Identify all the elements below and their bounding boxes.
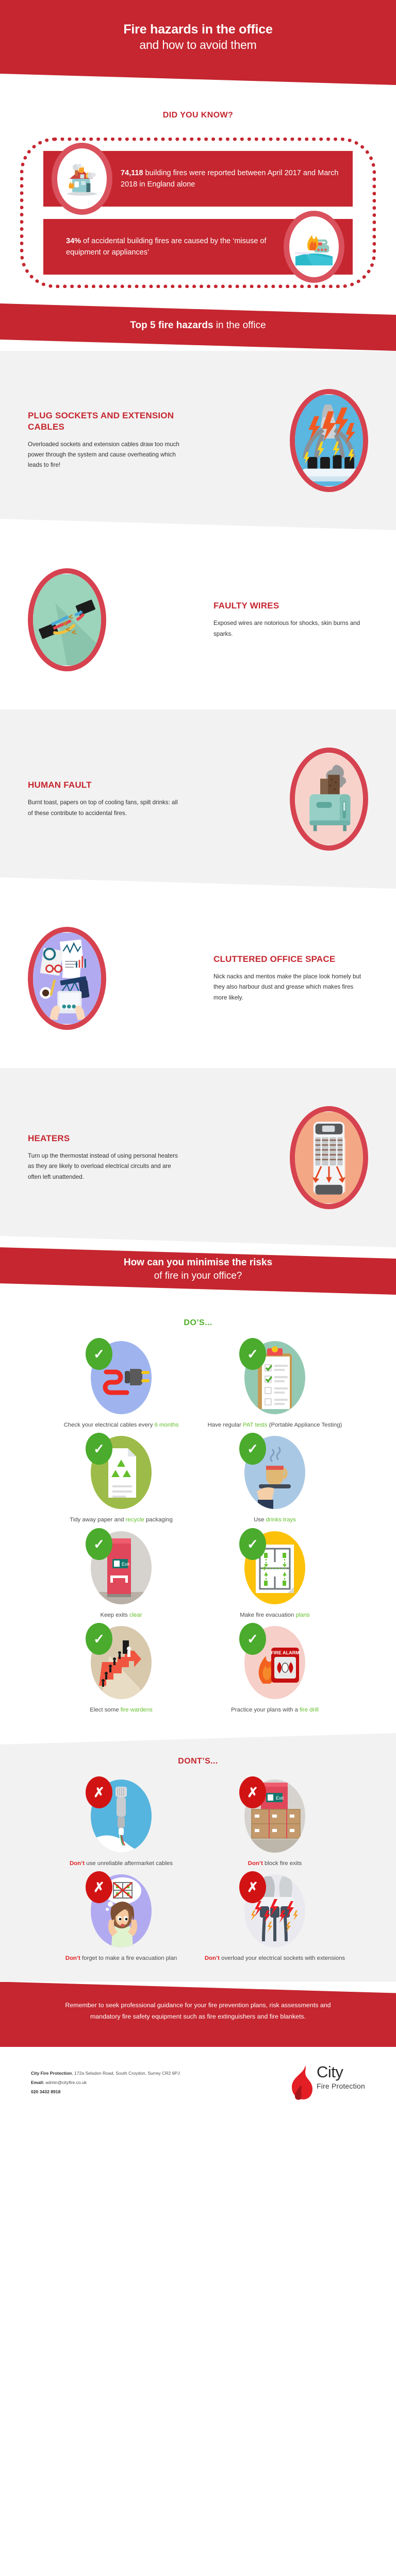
infographic-page: Fire hazards in the office and how to av… bbox=[0, 0, 396, 2576]
exposed-wires-icon bbox=[28, 568, 106, 671]
dos-section: DO’S... ✓ bbox=[0, 1295, 396, 1733]
hazard-body-2: Exposed wires are notorious for shocks, … bbox=[213, 618, 368, 639]
overloaded-extension-lead-icon bbox=[290, 389, 368, 492]
do-hl-4: drinks trays bbox=[266, 1517, 296, 1523]
dont-art-3: ✗ bbox=[91, 1874, 152, 1947]
do-pre-2: Have regular bbox=[208, 1422, 243, 1428]
do-caption-4: Use drinks trays bbox=[198, 1515, 352, 1524]
do-hl-2: PAT tests bbox=[243, 1422, 267, 1428]
do-tile-2: ✓ Have regular PAT tests (Portable Appli… bbox=[198, 1341, 352, 1430]
do-caption-6: Make fire evacuation plans bbox=[198, 1611, 352, 1620]
stat-value-1: 74,118 bbox=[121, 169, 143, 177]
do-caption-8: Practice your plans with a fire drill bbox=[198, 1705, 352, 1715]
do-pre-4: Use bbox=[254, 1517, 266, 1523]
hazard-body-1: Overloaded sockets and extension cables … bbox=[28, 439, 183, 471]
brand-name: City bbox=[317, 2064, 365, 2079]
top5-bold: Top 5 fire hazards bbox=[130, 320, 213, 331]
footer-email[interactable]: admin@cityfire.co.uk bbox=[44, 2080, 87, 2085]
hazard-title-4: CLUTTERED OFFICE SPACE bbox=[213, 954, 368, 964]
do-tile-4: ✓ Use drinks trays bbox=[198, 1436, 352, 1524]
hazard-body-3: Burnt toast, papers on top of cooling fa… bbox=[28, 798, 183, 819]
page-title: Fire hazards in the office bbox=[0, 22, 396, 38]
do-tile-5: Exit ✓ Keep exits clear bbox=[44, 1531, 198, 1620]
minimise-band: How can you minimise the risks of fire i… bbox=[0, 1247, 396, 1295]
footer-company: City Fire Protection bbox=[31, 2071, 72, 2076]
cluttered-desk-icon bbox=[28, 927, 106, 1030]
closing-text: Remember to seek professional guidance f… bbox=[0, 1982, 396, 2047]
dont-tile-2: Exit ✗ bbox=[198, 1780, 352, 1868]
svg-text:Exit: Exit bbox=[276, 1795, 284, 1801]
hazard-title-5: HEATERS bbox=[28, 1133, 183, 1144]
do-post-3: packaging bbox=[144, 1517, 173, 1523]
dont-caption-3: Don’t forget to make a fire evacuation p… bbox=[44, 1954, 198, 1963]
do-pre-3: Tidy away paper and bbox=[70, 1517, 125, 1523]
tick-icon: ✓ bbox=[86, 1528, 112, 1560]
do-art-5: Exit ✓ bbox=[91, 1531, 152, 1604]
dont-caption-2: Don’t block fire exits bbox=[198, 1859, 352, 1868]
do-tile-7: ✓ Elect some fire wardens bbox=[44, 1626, 198, 1715]
footer-email-label: Email: bbox=[31, 2080, 44, 2085]
tick-icon: ✓ bbox=[239, 1623, 266, 1655]
dont-tile-3: ✗ Don’t forget to make a fire evacuation… bbox=[44, 1874, 198, 1963]
footer-address: , 172a Selsdon Road, South Croydon, Surr… bbox=[72, 2071, 179, 2076]
dont-rest-1: use unreliable aftermarket cables bbox=[85, 1860, 173, 1867]
dont-art-2: Exit ✗ bbox=[244, 1780, 305, 1853]
svg-text:FIRE ALARM: FIRE ALARM bbox=[271, 1650, 299, 1655]
did-you-know-heading: DID YOU KNOW? bbox=[0, 111, 396, 120]
do-tile-8: FIRE ALARM ✓ Practice your plans with a … bbox=[198, 1626, 352, 1715]
do-caption-7: Elect some fire wardens bbox=[44, 1705, 198, 1715]
hazard-text-4: CLUTTERED OFFICE SPACE Nick nacks and me… bbox=[213, 954, 368, 1003]
hazard-item-1: PLUG SOCKETS AND EXTENSION CABLES Overlo… bbox=[0, 351, 396, 530]
do-art-7: ✓ bbox=[91, 1626, 152, 1699]
footer-address-line: City Fire Protection, 172a Selsdon Road,… bbox=[31, 2069, 180, 2078]
stat-card-1: 74,118 building fires were reported betw… bbox=[43, 151, 353, 207]
donts-section: DONT’S... bbox=[0, 1733, 396, 1982]
dos-grid: ✓ Check your electrical cables every 6 m… bbox=[0, 1332, 396, 1733]
cross-icon: ✗ bbox=[239, 1776, 266, 1808]
dont-art-4: ✗ bbox=[244, 1874, 305, 1947]
donts-heading: DONT’S... bbox=[0, 1733, 396, 1770]
tick-icon: ✓ bbox=[86, 1338, 112, 1370]
did-you-know-section: DID YOU KNOW? bbox=[0, 85, 396, 303]
tick-icon: ✓ bbox=[239, 1433, 266, 1465]
do-hl-1: 6 months bbox=[155, 1422, 179, 1428]
brand-tagline: Fire Protection bbox=[317, 2082, 365, 2090]
page-header: Fire hazards in the office and how to av… bbox=[0, 0, 396, 85]
brand-logo: City Fire Protection bbox=[290, 2064, 365, 2100]
dont-hl-2: Don’t bbox=[248, 1860, 263, 1867]
hazard-item-5: HEATERS Turn up the thermostat instead o… bbox=[0, 1068, 396, 1247]
stat-text-1: 74,118 building fires were reported betw… bbox=[121, 167, 339, 191]
hazard-title-1: PLUG SOCKETS AND EXTENSION CABLES bbox=[28, 410, 183, 432]
do-pre-8: Practice your plans with a bbox=[231, 1707, 300, 1713]
do-pre-6: Make fire evacuation bbox=[240, 1612, 295, 1618]
dont-rest-2: block fire exits bbox=[263, 1860, 302, 1867]
brand-text: City Fire Protection bbox=[317, 2064, 365, 2090]
tick-icon: ✓ bbox=[239, 1338, 266, 1370]
hazard-body-5: Turn up the thermostat instead of using … bbox=[28, 1151, 183, 1182]
cross-icon: ✗ bbox=[86, 1776, 112, 1808]
do-art-2: ✓ bbox=[244, 1341, 305, 1414]
cross-icon: ✗ bbox=[86, 1871, 112, 1903]
page-footer: City Fire Protection, 172a Selsdon Road,… bbox=[0, 2047, 396, 2113]
do-pre-5: Keep exits bbox=[100, 1612, 129, 1618]
dont-caption-1: Don’t use unreliable aftermarket cables bbox=[44, 1859, 198, 1868]
top5-band-text: Top 5 fire hazards in the office bbox=[130, 319, 266, 335]
donts-grid: ✗ Don’t use unreliable aftermarket cable… bbox=[0, 1770, 396, 1982]
dont-hl-3: Don’t bbox=[65, 1955, 80, 1961]
do-caption-3: Tidy away paper and recycle packaging bbox=[44, 1515, 198, 1524]
footer-contact: City Fire Protection, 172a Selsdon Road,… bbox=[31, 2069, 180, 2096]
tick-icon: ✓ bbox=[86, 1433, 112, 1465]
do-art-6: ✓ bbox=[244, 1531, 305, 1604]
minimise-bold: How can you minimise the risks bbox=[124, 1257, 272, 1268]
footer-email-line: Email: admin@cityfire.co.uk bbox=[31, 2078, 180, 2087]
dont-rest-3: forget to make a fire evacuation plan bbox=[80, 1955, 177, 1961]
portable-heater-icon bbox=[290, 1106, 368, 1209]
hazard-title-3: HUMAN FAULT bbox=[28, 779, 183, 790]
stat-rest-2: of accidental building fires are caused … bbox=[66, 237, 267, 257]
do-hl-6: plans bbox=[296, 1612, 310, 1618]
hazard-title-2: FAULTY WIRES bbox=[213, 600, 368, 611]
dont-hl-4: Don’t bbox=[205, 1955, 220, 1961]
dont-tile-1: ✗ Don’t use unreliable aftermarket cable… bbox=[44, 1780, 198, 1868]
hazard-item-4: CLUTTERED OFFICE SPACE Nick nacks and me… bbox=[0, 889, 396, 1068]
dos-heading: DO’S... bbox=[0, 1295, 396, 1332]
dont-caption-4: Don’t overload your electrical sockets w… bbox=[198, 1954, 352, 1963]
do-tile-3: ✓ Tidy away paper and recycle packaging bbox=[44, 1436, 198, 1524]
top5-rest: in the office bbox=[213, 320, 266, 331]
closing-band: Remember to seek professional guidance f… bbox=[0, 1982, 396, 2047]
tick-icon: ✓ bbox=[86, 1623, 112, 1655]
hazard-text-1: PLUG SOCKETS AND EXTENSION CABLES Overlo… bbox=[28, 410, 183, 470]
burning-iron-icon bbox=[284, 211, 344, 283]
do-caption-2: Have regular PAT tests (Portable Applian… bbox=[198, 1420, 352, 1430]
hazard-item-3: HUMAN FAULT Burnt toast, papers on top o… bbox=[0, 709, 396, 889]
do-art-4: ✓ bbox=[244, 1436, 305, 1509]
do-pre-1: Check your electrical cables every bbox=[64, 1422, 155, 1428]
do-caption-5: Keep exits clear bbox=[44, 1611, 198, 1620]
hazard-item-2: FAULTY WIRES Exposed wires are notorious… bbox=[0, 530, 396, 709]
dotted-frame: 74,118 building fires were reported betw… bbox=[20, 138, 376, 288]
dont-hl-1: Don’t bbox=[70, 1860, 85, 1867]
smoking-toaster-icon bbox=[290, 748, 368, 851]
do-art-1: ✓ bbox=[91, 1341, 152, 1414]
footer-phone[interactable]: 020 3432 8918 bbox=[31, 2087, 180, 2096]
svg-text:Exit: Exit bbox=[122, 1562, 130, 1567]
cross-icon: ✗ bbox=[239, 1871, 266, 1903]
do-hl-5: clear bbox=[129, 1612, 142, 1618]
do-art-8: FIRE ALARM ✓ bbox=[244, 1626, 305, 1699]
do-post-2: (Portable Appliance Testing) bbox=[268, 1422, 342, 1428]
do-tile-1: ✓ Check your electrical cables every 6 m… bbox=[44, 1341, 198, 1430]
hazard-text-5: HEATERS Turn up the thermostat instead o… bbox=[28, 1133, 183, 1182]
minimise-band-text: How can you minimise the risks of fire i… bbox=[124, 1256, 272, 1285]
do-art-3: ✓ bbox=[91, 1436, 152, 1509]
do-hl-3: recycle bbox=[126, 1517, 144, 1523]
dont-rest-4: overload your electrical sockets with ex… bbox=[220, 1955, 345, 1961]
hazard-body-4: Nick nacks and mentos make the place loo… bbox=[213, 972, 368, 1003]
page-subtitle: and how to avoid them bbox=[0, 38, 396, 53]
stat-card-2: 34% of accidental building fires are cau… bbox=[43, 219, 353, 275]
do-caption-1: Check your electrical cables every 6 mon… bbox=[44, 1420, 198, 1430]
do-tile-6: ✓ Make fire evacuation plans bbox=[198, 1531, 352, 1620]
do-pre-7: Elect some bbox=[90, 1707, 121, 1713]
stat-rest-1: building fires were reported between Apr… bbox=[121, 169, 338, 189]
dont-tile-4: ✗ Don’t overload your electrical sockets… bbox=[198, 1874, 352, 1963]
stat-value-2: 34% bbox=[66, 237, 81, 245]
hazard-text-2: FAULTY WIRES Exposed wires are notorious… bbox=[213, 600, 368, 639]
flame-logo-icon bbox=[290, 2064, 313, 2100]
minimise-rest: of fire in your office? bbox=[154, 1270, 242, 1281]
hazard-text-3: HUMAN FAULT Burnt toast, papers on top o… bbox=[28, 779, 183, 819]
stat-text-2: 34% of accidental building fires are cau… bbox=[66, 235, 275, 259]
do-hl-8: fire drill bbox=[300, 1707, 319, 1713]
top5-band: Top 5 fire hazards in the office bbox=[0, 303, 396, 351]
burning-house-icon bbox=[52, 143, 112, 215]
tick-icon: ✓ bbox=[239, 1528, 266, 1560]
do-hl-7: fire wardens bbox=[121, 1707, 153, 1713]
dont-art-1: ✗ bbox=[91, 1780, 152, 1853]
